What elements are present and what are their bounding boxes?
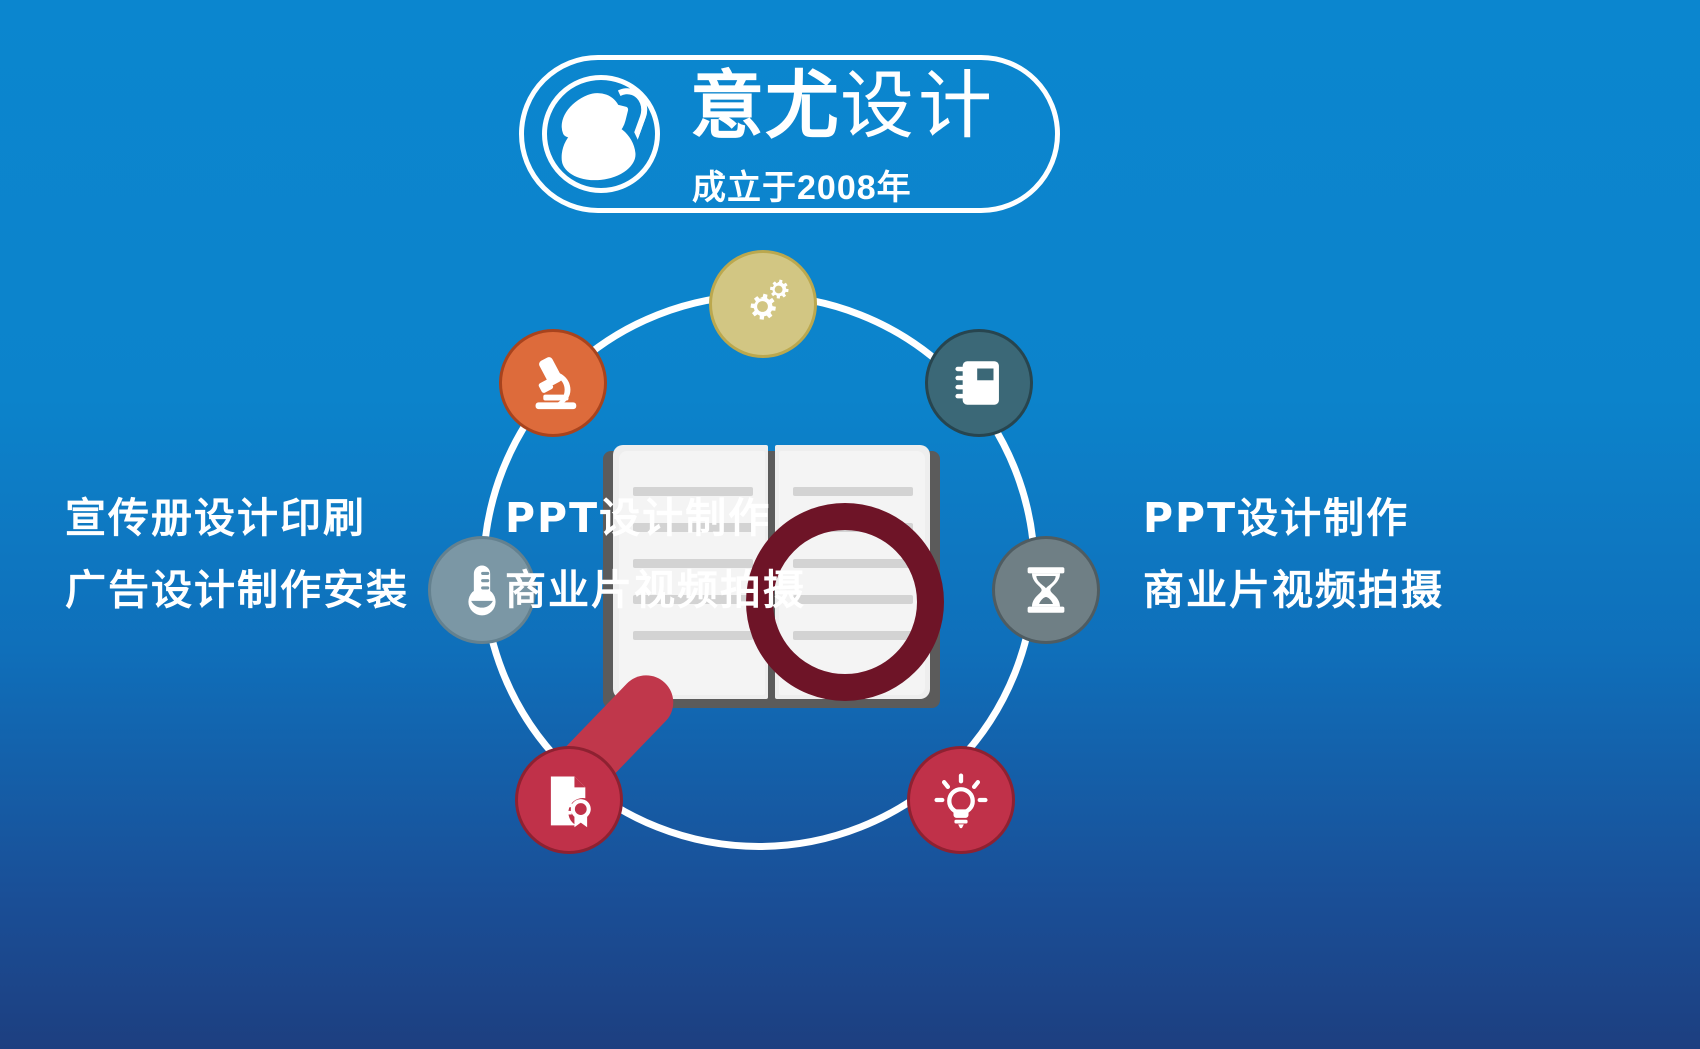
text-center-line-2: 商业片视频拍摄 bbox=[505, 554, 806, 626]
text-block-left: 宣传册设计印刷 广告设计制作安装 bbox=[65, 482, 409, 626]
node-lightbulb[interactable] bbox=[907, 746, 1015, 854]
book-text-line bbox=[793, 487, 913, 496]
microscope-icon bbox=[522, 352, 584, 414]
node-notebook[interactable] bbox=[925, 329, 1033, 437]
notebook-icon bbox=[950, 354, 1008, 412]
thermometer-icon bbox=[453, 561, 511, 619]
text-right-line-2: 商业片视频拍摄 bbox=[1143, 554, 1444, 626]
certificate-icon bbox=[540, 771, 598, 829]
hourglass-icon bbox=[1018, 562, 1074, 618]
node-gears[interactable] bbox=[709, 250, 817, 358]
logo-tagline: 成立于2008年 bbox=[692, 160, 912, 209]
slide-canvas: 意尤设计 成立于2008年 bbox=[0, 0, 1700, 1049]
node-microscope[interactable] bbox=[499, 329, 607, 437]
logo-name-bold: 意尤 bbox=[690, 63, 840, 149]
text-left-line-2: 广告设计制作安装 bbox=[65, 554, 409, 626]
node-hourglass[interactable] bbox=[992, 536, 1100, 644]
text-center-line-1: PPT设计制作 bbox=[505, 482, 806, 554]
gears-icon bbox=[732, 273, 794, 335]
text-left-line-1: 宣传册设计印刷 bbox=[65, 482, 409, 554]
lightbulb-icon bbox=[931, 770, 991, 830]
logo-name-thin: 设计 bbox=[840, 63, 996, 149]
text-block-right: PPT设计制作 商业片视频拍摄 bbox=[1143, 482, 1444, 626]
logo-mark bbox=[542, 75, 660, 193]
logo-title: 意尤设计 bbox=[690, 66, 996, 146]
text-right-line-1: PPT设计制作 bbox=[1143, 482, 1444, 554]
text-block-center: PPT设计制作 商业片视频拍摄 bbox=[505, 482, 806, 626]
node-certificate[interactable] bbox=[515, 746, 623, 854]
